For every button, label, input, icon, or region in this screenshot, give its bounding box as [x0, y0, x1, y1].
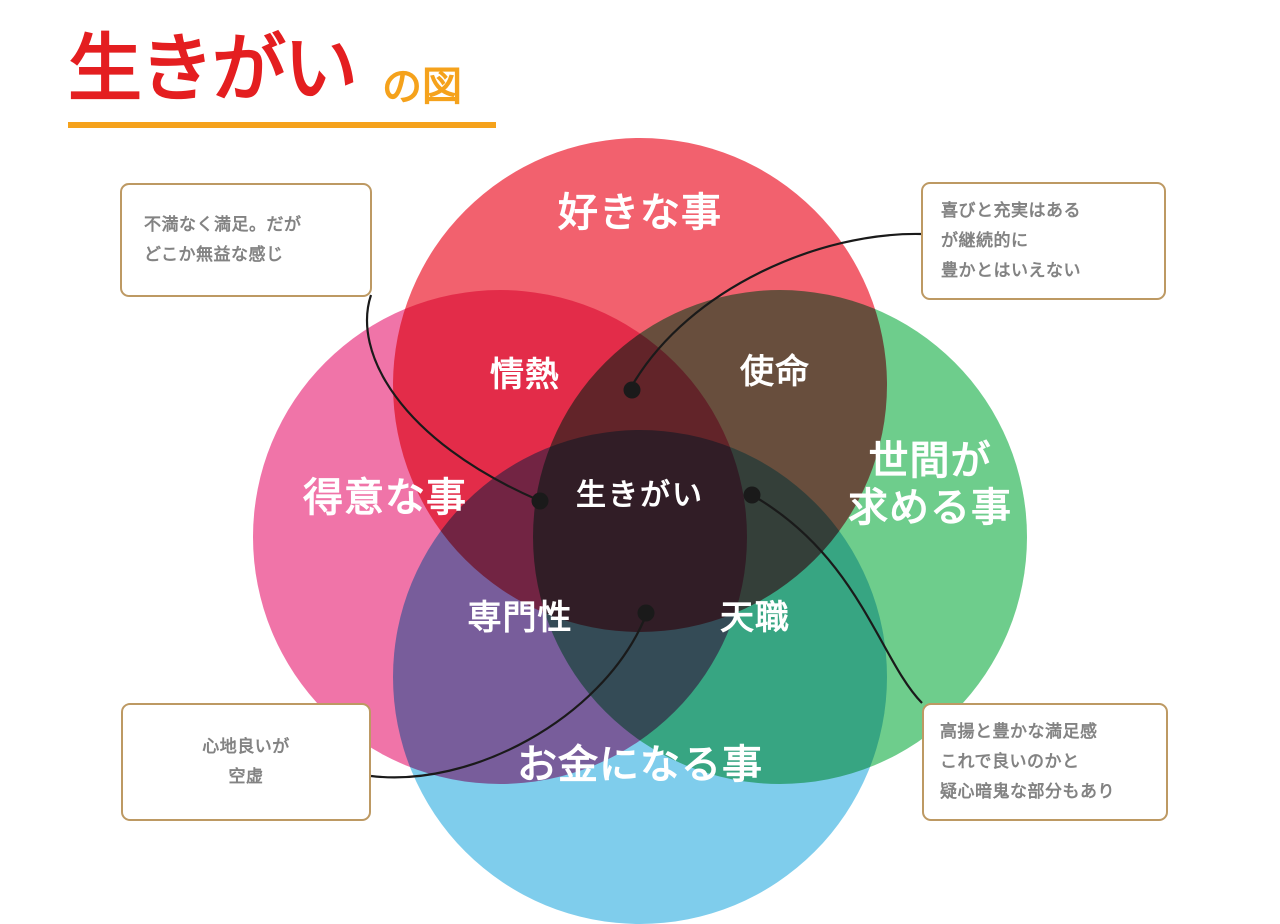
- callout-box-top-right[interactable]: 喜びと充実はある が継続的に 豊かとはいえない: [921, 182, 1166, 300]
- callout-box-top-left[interactable]: 不満なく満足。だが どこか無益な感じ: [120, 183, 372, 297]
- callout-text-bottom-right: 高揚と豊かな満足感 これで良いのかと 疑心暗鬼な部分もあり: [940, 717, 1150, 807]
- callout-text-bottom-left: 心地良いが 空虚: [141, 732, 351, 792]
- callout-box-bottom-left[interactable]: 心地良いが 空虚: [121, 703, 371, 821]
- callout-text-top-right: 喜びと充実はある が継続的に 豊かとはいえない: [941, 196, 1146, 286]
- callout-text-top-left: 不満なく満足。だが どこか無益な感じ: [144, 210, 348, 270]
- callout-box-bottom-right[interactable]: 高揚と豊かな満足感 これで良いのかと 疑心暗鬼な部分もあり: [922, 703, 1168, 821]
